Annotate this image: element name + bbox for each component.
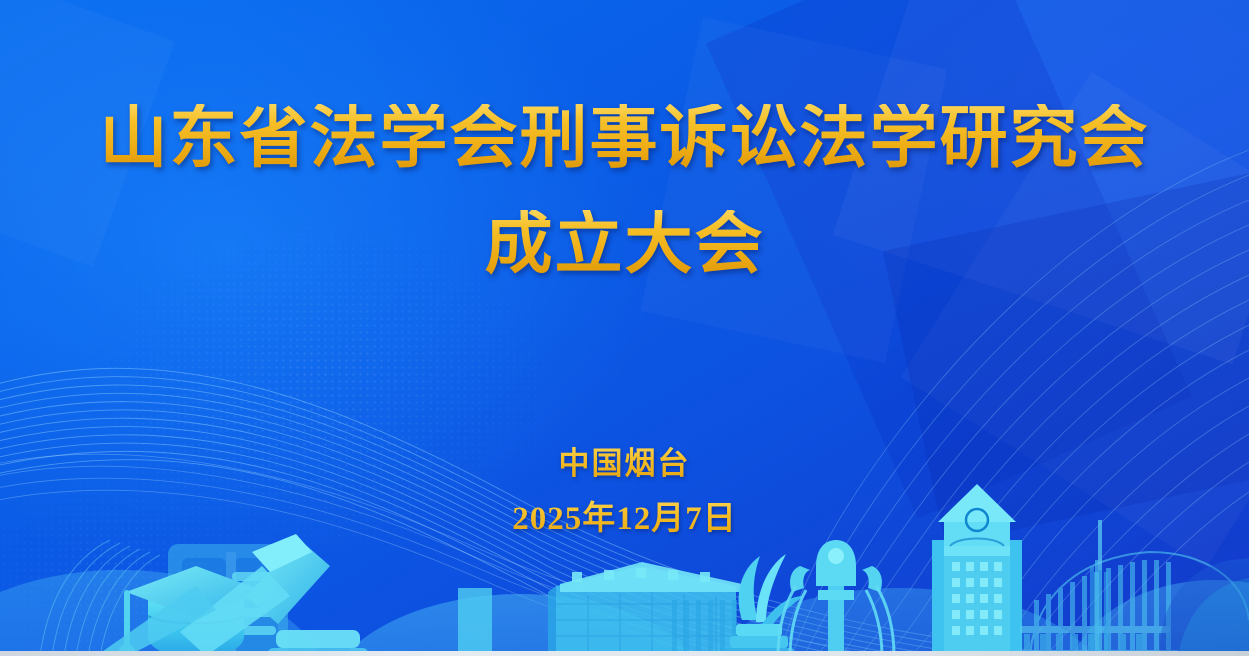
event-date: 2025年12月7日 xyxy=(0,491,1249,539)
subtitle-block: 中国烟台 2025年12月7日 xyxy=(0,438,1249,539)
slide-canvas: 山东省法学会刑事诉讼法学研究会 成立大会 中国烟台 2025年12月7日 xyxy=(0,0,1249,656)
event-location: 中国烟台 xyxy=(0,438,1249,483)
page-title-line-1: 山东省法学会刑事诉讼法学研究会 xyxy=(0,104,1249,172)
spire-tower-icon xyxy=(1090,520,1108,656)
bottom-edge-strip xyxy=(0,651,1249,656)
title-block: 山东省法学会刑事诉讼法学研究会 成立大会 xyxy=(0,104,1249,278)
page-title-line-2: 成立大会 xyxy=(0,210,1249,278)
bottom-skyline-illustration xyxy=(0,0,1249,656)
